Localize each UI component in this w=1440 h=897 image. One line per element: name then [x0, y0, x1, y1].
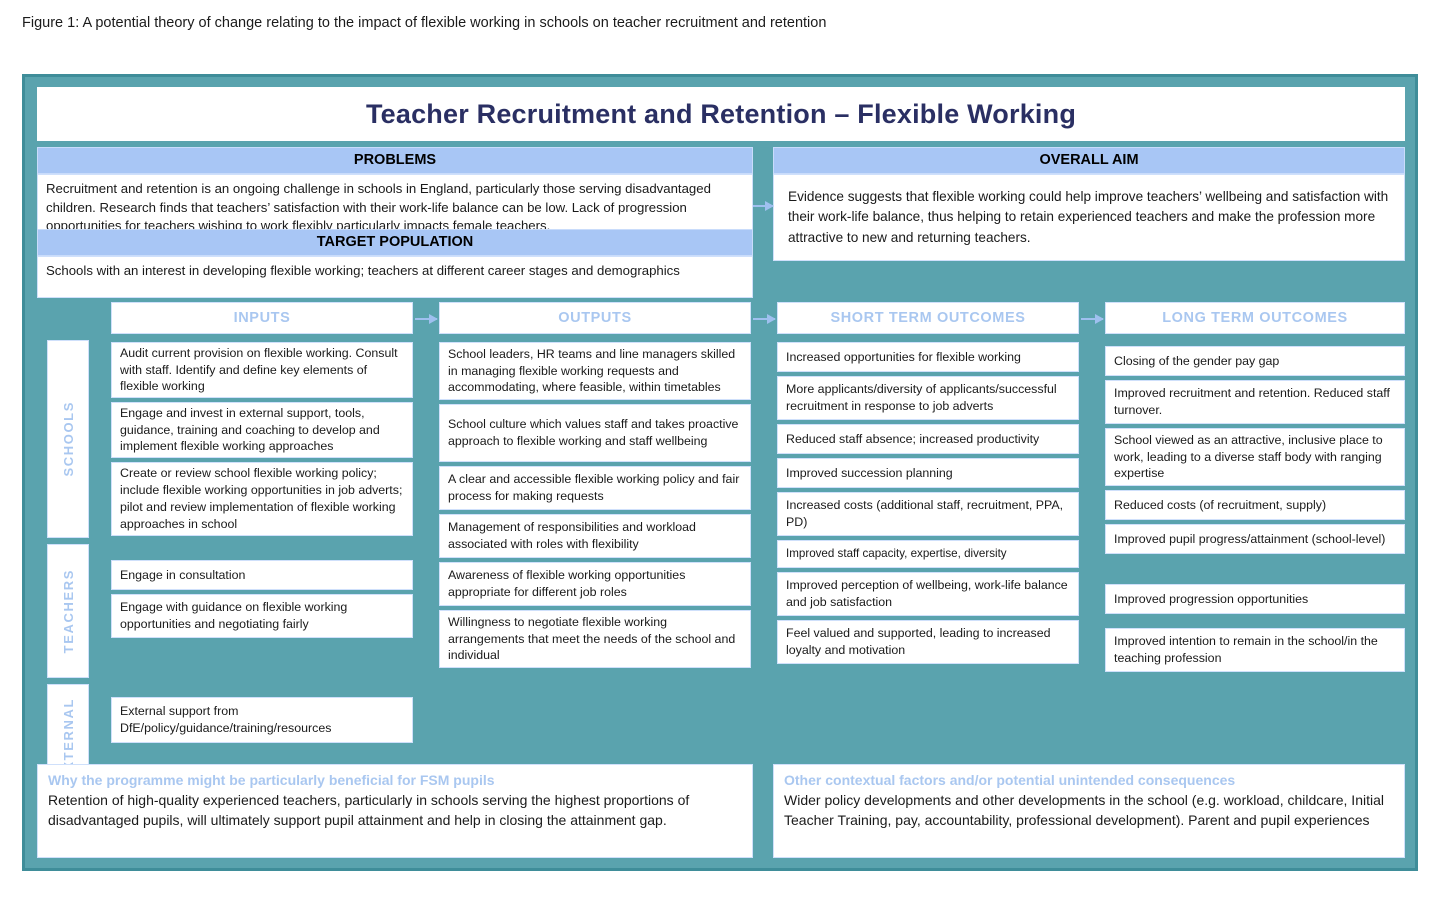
input-card-external-1-text: External support from DfE/policy/guidanc…: [120, 703, 404, 737]
short-term-card-2: More applicants/diversity of applicants/…: [777, 376, 1079, 420]
long-term-card-4: Reduced costs (of recruitment, supply): [1105, 490, 1405, 520]
short-term-card-1: Increased opportunities for flexible wor…: [777, 342, 1079, 372]
problems-heading: PROBLEMS: [37, 147, 753, 174]
output-card-3: A clear and accessible flexible working …: [439, 466, 751, 510]
long-term-card-1: Closing of the gender pay gap: [1105, 346, 1405, 376]
contextual-factors-body: Wider policy developments and other deve…: [784, 790, 1394, 831]
input-card-schools-3: Create or review school flexible working…: [111, 462, 413, 536]
diagram-title-box: Teacher Recruitment and Retention – Flex…: [37, 87, 1405, 141]
arrow-problems-to-aim: [753, 205, 773, 207]
short-term-card-5: Increased costs (additional staff, recru…: [777, 492, 1079, 536]
output-card-6: Willingness to negotiate flexible workin…: [439, 610, 751, 668]
figure-caption: Figure 1: A potential theory of change r…: [22, 14, 1422, 33]
long-term-card-2: Improved recruitment and retention. Redu…: [1105, 380, 1405, 424]
theory-of-change-diagram: Teacher Recruitment and Retention – Flex…: [22, 74, 1418, 871]
group-label-teachers: TEACHERS: [47, 544, 89, 678]
output-card-4: Management of responsibilities and workl…: [439, 514, 751, 558]
column-header-short-term-outcomes: SHORT TERM OUTCOMES: [777, 302, 1079, 334]
long-term-card-7: Improved intention to remain in the scho…: [1105, 628, 1405, 672]
short-term-card-6: Improved staff capacity, expertise, dive…: [777, 540, 1079, 568]
output-card-5: Awareness of flexible working opportunit…: [439, 562, 751, 606]
input-card-teachers-2: Engage with guidance on flexible working…: [111, 594, 413, 638]
contextual-factors-panel: Other contextual factors and/or potentia…: [773, 764, 1405, 858]
input-card-teachers-1: Engage in consultation: [111, 560, 413, 590]
long-term-card-6: Improved progression opportunities: [1105, 584, 1405, 614]
long-term-card-3: School viewed as an attractive, inclusiv…: [1105, 428, 1405, 486]
overall-aim-heading: OVERALL AIM: [773, 147, 1405, 174]
arrow-short-to-long: [1081, 318, 1103, 320]
group-label-schools: SCHOOLS: [47, 340, 89, 538]
input-card-schools-1: Audit current provision on flexible work…: [111, 342, 413, 398]
input-card-external-1: External support from DfE/policy/guidanc…: [111, 697, 413, 743]
target-population-heading: TARGET POPULATION: [37, 229, 753, 256]
output-card-1: School leaders, HR teams and line manage…: [439, 342, 751, 400]
arrow-outputs-to-short: [753, 318, 775, 320]
arrow-inputs-to-outputs: [415, 318, 437, 320]
column-header-long-term-outcomes: LONG TERM OUTCOMES: [1105, 302, 1405, 334]
group-label-teachers-text: TEACHERS: [61, 569, 76, 653]
fsm-benefit-panel: Why the programme might be particularly …: [37, 764, 753, 858]
group-label-schools-text: SCHOOLS: [61, 401, 76, 476]
output-card-2: School culture which values staff and ta…: [439, 404, 751, 462]
short-term-card-4: Improved succession planning: [777, 458, 1079, 488]
short-term-card-3: Reduced staff absence; increased product…: [777, 424, 1079, 454]
short-term-card-7: Improved perception of wellbeing, work-l…: [777, 572, 1079, 616]
short-term-card-8: Feel valued and supported, leading to in…: [777, 620, 1079, 664]
contextual-factors-heading: Other contextual factors and/or potentia…: [784, 772, 1394, 788]
long-term-card-5: Improved pupil progress/attainment (scho…: [1105, 524, 1405, 554]
target-population-panel: TARGET POPULATION Schools with an intere…: [37, 229, 753, 298]
overall-aim-body: Evidence suggests that flexible working …: [773, 174, 1405, 261]
overall-aim-panel: OVERALL AIM Evidence suggests that flexi…: [773, 147, 1405, 261]
page-title: Teacher Recruitment and Retention – Flex…: [366, 99, 1076, 130]
input-card-schools-2: Engage and invest in external support, t…: [111, 402, 413, 458]
column-header-inputs: INPUTS: [111, 302, 413, 334]
fsm-benefit-heading: Why the programme might be particularly …: [48, 772, 742, 788]
fsm-benefit-body: Retention of high-quality experienced te…: [48, 790, 742, 831]
column-header-outputs: OUTPUTS: [439, 302, 751, 334]
target-population-body: Schools with an interest in developing f…: [37, 256, 753, 298]
